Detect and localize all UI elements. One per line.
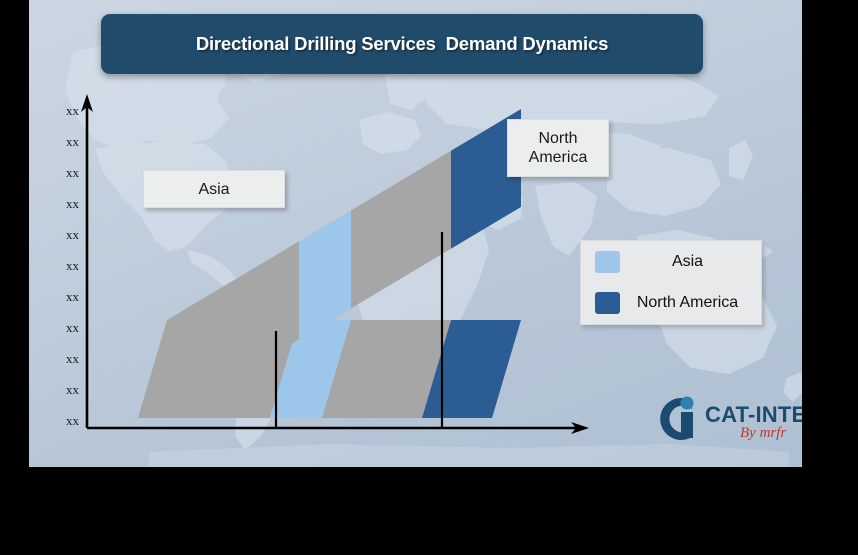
band-seg-rest-middle [351,80,451,440]
cat-intel-logo[interactable]: CAT-INTEL By mrfr [648,386,802,450]
screenshot-root: Directional Drilling Services Demand Dyn… [0,0,858,555]
chart-legend: Asia North America [580,240,762,325]
legend-label-asia: Asia [620,253,761,271]
band-seg-asia [299,80,351,440]
callout-north-america-label-line2: America [529,148,588,167]
legend-item-asia[interactable]: Asia [581,241,761,282]
callout-asia-label: Asia [198,180,229,199]
band-seg-rest-left [129,80,299,440]
cat-intel-mark-icon [648,390,710,448]
legend-label-north-america: North America [620,294,761,312]
legend-swatch-north-america [595,292,620,314]
callout-north-america-label-line1: North [529,129,588,148]
legend-item-north-america[interactable]: North America [581,282,761,323]
callout-asia[interactable]: Asia [143,170,285,208]
callout-north-america[interactable]: North America [507,119,609,177]
slide-canvas: Directional Drilling Services Demand Dyn… [29,0,802,467]
legend-swatch-asia [595,251,620,273]
logo-tagline: By mrfr [740,425,786,442]
